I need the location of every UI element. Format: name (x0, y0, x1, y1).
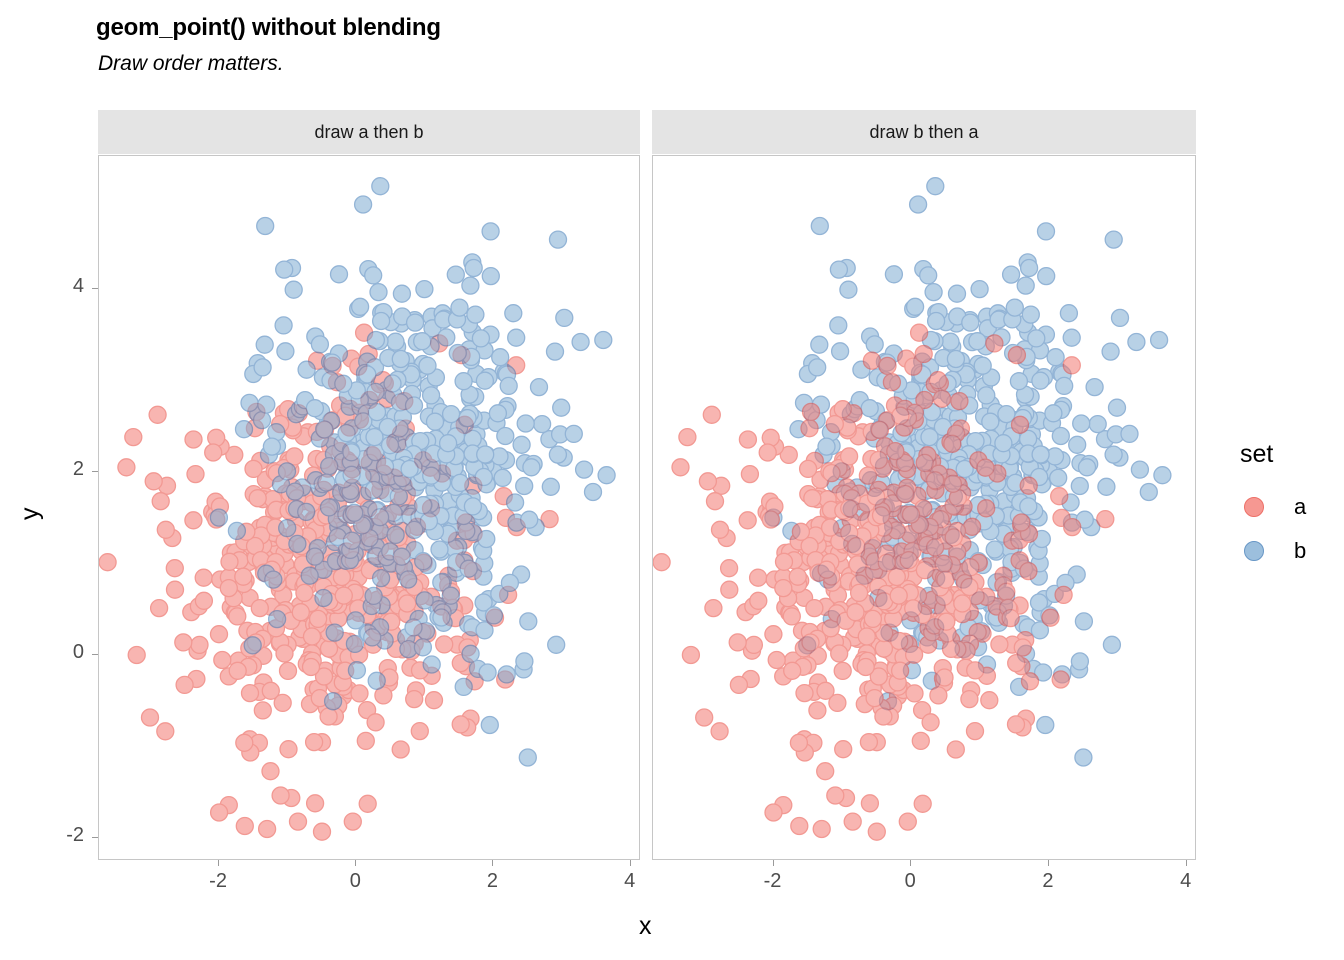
x-tick-mark (773, 860, 774, 866)
legend-item-a[interactable]: a (1232, 485, 1344, 529)
y-axis-title: y (16, 507, 45, 520)
y-tick-mark (92, 288, 98, 289)
scatter-points-group (99, 156, 640, 860)
legend-key-a (1232, 485, 1276, 529)
x-tick-label: 2 (462, 870, 522, 893)
facet-strip-left-label: draw a then b (314, 122, 423, 143)
legend-dot-a-icon (1244, 497, 1264, 517)
x-tick-label: -2 (188, 870, 248, 893)
x-tick-label: 0 (325, 870, 385, 893)
y-tick-mark (92, 837, 98, 838)
y-tick-mark (92, 471, 98, 472)
x-tick-label: -2 (743, 870, 803, 893)
facet-strip-right-label: draw b then a (869, 122, 978, 143)
y-tick-label: 2 (28, 458, 84, 481)
x-axis-title: x (639, 912, 652, 941)
y-tick-mark (92, 654, 98, 655)
x-tick-mark (1048, 860, 1049, 866)
legend-item-b[interactable]: b (1232, 529, 1344, 573)
x-tick-mark (355, 860, 356, 866)
x-tick-label: 2 (1018, 870, 1078, 893)
y-tick-label: 4 (28, 275, 84, 298)
legend-label-a: a (1294, 494, 1306, 520)
facet-strip-left: draw a then b (98, 110, 640, 154)
scatter-panel-left (98, 155, 640, 860)
scatter-points-group (653, 156, 1196, 860)
x-tick-label: 4 (600, 870, 660, 893)
x-tick-mark (218, 860, 219, 866)
x-tick-mark (1186, 860, 1187, 866)
x-tick-label: 4 (1156, 870, 1216, 893)
plot-root: geom_point() without blending Draw order… (0, 0, 1344, 960)
facet-strip-right: draw b then a (652, 110, 1196, 154)
legend-key-b (1232, 529, 1276, 573)
x-tick-mark (492, 860, 493, 866)
legend: set a b (1232, 440, 1344, 573)
page-subtitle: Draw order matters. (98, 52, 284, 76)
legend-label-b: b (1294, 538, 1306, 564)
legend-title: set (1240, 440, 1344, 469)
page-title: geom_point() without blending (96, 14, 441, 42)
x-tick-label: 0 (880, 870, 940, 893)
legend-dot-b-icon (1244, 541, 1264, 561)
y-tick-label: -2 (28, 824, 84, 847)
x-tick-mark (630, 860, 631, 866)
scatter-panel-right (652, 155, 1196, 860)
x-tick-mark (910, 860, 911, 866)
y-tick-label: 0 (28, 641, 84, 664)
